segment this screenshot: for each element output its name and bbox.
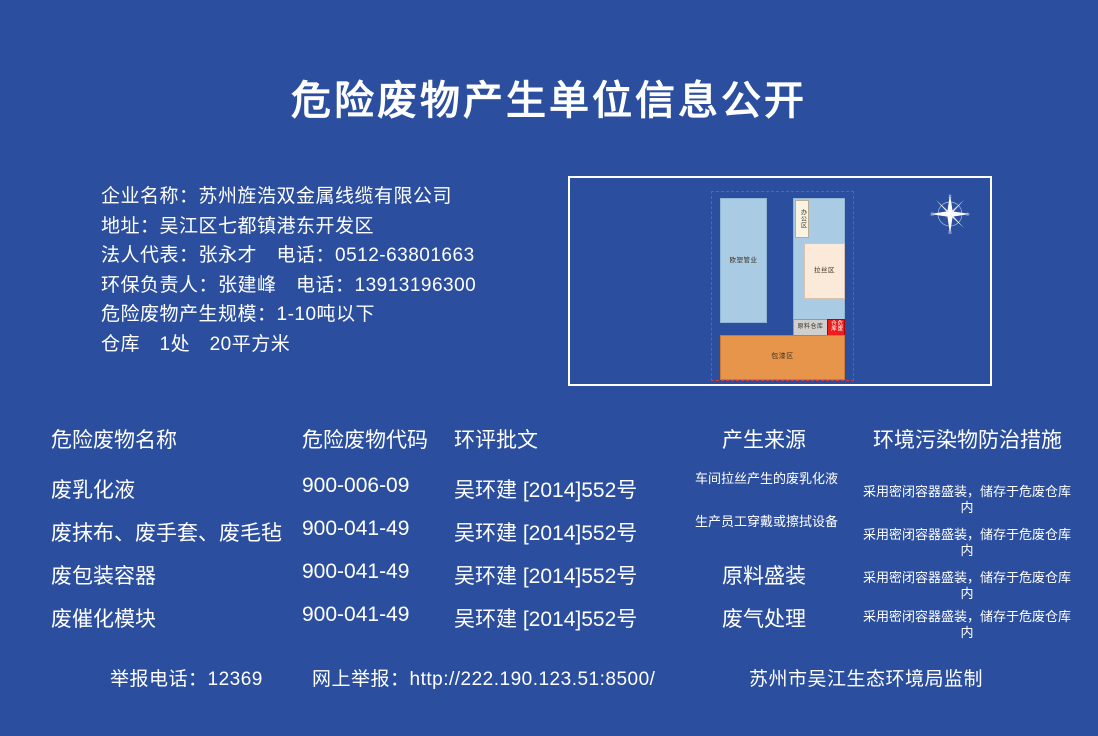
map-block-wire-drawing-area: 拉丝区 <box>804 243 845 299</box>
cell-approval: 吴环建 [2014]552号 <box>454 474 637 504</box>
info-line-legal-rep: 法人代表：张永才 电话：0512-63801663 <box>101 241 571 271</box>
map-block-raw-material-warehouse: 原料仓库 <box>793 319 828 336</box>
footer: 举报电话：12369 网上举报：http://222.190.123.51:85… <box>0 664 1098 696</box>
cell-source: 原料盛装 <box>689 560 839 590</box>
cell-code: 900-041-49 <box>302 603 409 627</box>
column-header-name: 危险废物名称 <box>51 424 177 454</box>
cell-approval: 吴环建 [2014]552号 <box>454 517 637 547</box>
cell-source: 车间拉丝产生的废乳化液 <box>689 471 844 487</box>
map-block-label: 办公区 <box>799 209 806 229</box>
map-block-ousu-pipe-industry: 欧塑管业 <box>720 198 767 323</box>
cell-measure: 采用密闭容器盛装，储存于危废仓库内 <box>858 570 1076 602</box>
company-info-block: 企业名称：苏州旌浩双金属线缆有限公司 地址：吴江区七都镇港东开发区 法人代表：张… <box>101 182 571 359</box>
table-row: 废包装容器 900-041-49 吴环建 [2014]552号 原料盛装 采用密… <box>0 556 1098 599</box>
column-header-measure: 环境污染物防治措施 <box>860 424 1075 454</box>
compass-rose-icon: 北 南 西 东 <box>928 192 972 236</box>
info-line-warehouse: 仓库 1处 20平方米 <box>101 330 571 360</box>
map-block-label: 欧塑管业 <box>730 257 758 264</box>
cell-name: 废乳化液 <box>51 474 135 504</box>
svg-text:南: 南 <box>948 230 952 235</box>
cell-source: 生产员工穿戴或擦拭设备 <box>689 514 844 530</box>
cell-measure: 采用密闭容器盛装，储存于危废仓库内 <box>858 609 1076 641</box>
map-block-label: 危废仓库 <box>830 320 843 335</box>
footer-report-website[interactable]: 网上举报：http://222.190.123.51:8500/ <box>312 664 655 691</box>
cell-source: 废气处理 <box>689 603 839 633</box>
hazardous-waste-table: 危险废物名称 危险废物代码 环评批文 产生来源 环境污染物防治措施 废乳化液 9… <box>0 424 1098 642</box>
info-line-company-name: 企业名称：苏州旌浩双金属线缆有限公司 <box>101 182 571 212</box>
table-row: 废抹布、废手套、废毛毡 900-041-49 吴环建 [2014]552号 生产… <box>0 513 1098 556</box>
table-header-row: 危险废物名称 危险废物代码 环评批文 产生来源 环境污染物防治措施 <box>0 424 1098 470</box>
page-title: 危险废物产生单位信息公开 <box>0 68 1098 126</box>
site-map-panel: 欧塑管业 办公区 拉丝区 原料仓库 危废仓库 包漆区 <box>568 176 992 386</box>
map-block-label: 包漆区 <box>771 353 794 361</box>
cell-approval: 吴环建 [2014]552号 <box>454 560 637 590</box>
column-header-approval: 环评批文 <box>454 424 538 454</box>
cell-name: 废抹布、废手套、废毛毡 <box>51 517 282 547</box>
column-header-code: 危险废物代码 <box>302 424 428 454</box>
info-line-address: 地址：吴江区七都镇港东开发区 <box>101 212 571 242</box>
svg-text:北: 北 <box>948 193 952 198</box>
footer-organization: 苏州市吴江生态环境局监制 <box>749 664 983 691</box>
column-header-source: 产生来源 <box>689 424 839 454</box>
map-block-paint-packaging-area: 包漆区 <box>720 335 845 380</box>
cell-code: 900-041-49 <box>302 560 409 584</box>
cell-code: 900-006-09 <box>302 474 409 498</box>
info-line-env-officer: 环保负责人：张建峰 电话：13913196300 <box>101 271 571 301</box>
poster-root: 危险废物产生单位信息公开 企业名称：苏州旌浩双金属线缆有限公司 地址：吴江区七都… <box>0 0 1098 736</box>
map-block-office-area: 办公区 <box>795 200 809 238</box>
cell-measure: 采用密闭容器盛装，储存于危废仓库内 <box>858 527 1076 559</box>
map-block-label: 拉丝区 <box>814 267 835 274</box>
table-row: 废乳化液 900-006-09 吴环建 [2014]552号 车间拉丝产生的废乳… <box>0 470 1098 513</box>
cell-name: 废催化模块 <box>51 603 156 633</box>
footer-report-telephone: 举报电话：12369 <box>110 664 263 691</box>
map-block-label: 原料仓库 <box>797 324 823 331</box>
cell-code: 900-041-49 <box>302 517 409 541</box>
table-row: 废催化模块 900-041-49 吴环建 [2014]552号 废气处理 采用密… <box>0 599 1098 642</box>
map-block-hazardous-waste-warehouse: 危废仓库 <box>827 319 845 336</box>
cell-approval: 吴环建 [2014]552号 <box>454 603 637 633</box>
cell-measure: 采用密闭容器盛装，储存于危废仓库内 <box>858 484 1076 516</box>
cell-name: 废包装容器 <box>51 560 156 590</box>
info-line-waste-scale: 危险废物产生规模：1-10吨以下 <box>101 300 571 330</box>
svg-text:西: 西 <box>931 212 935 216</box>
svg-text:东: 东 <box>966 211 970 216</box>
